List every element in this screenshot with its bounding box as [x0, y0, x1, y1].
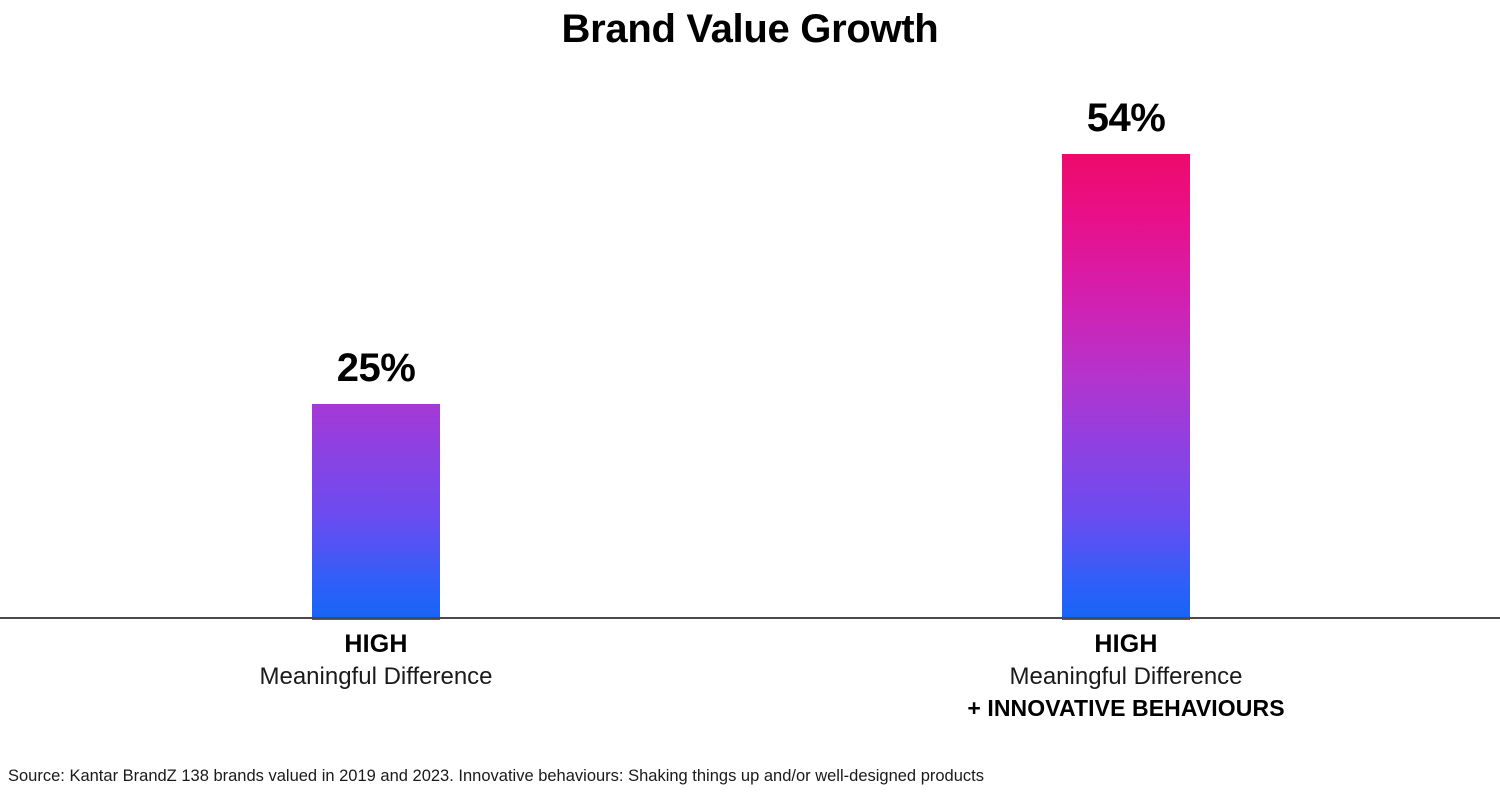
category-label-head: HIGH [132, 628, 620, 661]
bar-high-meaningful-difference-innovative[interactable] [1062, 154, 1190, 620]
bar-value-label: 25% [262, 348, 490, 388]
category-label-sub: Meaningful Difference [882, 661, 1370, 693]
category-label-head: HIGH [882, 628, 1370, 661]
category-label-sub: Meaningful Difference [132, 661, 620, 693]
bar-gradient-fill [1062, 154, 1190, 620]
x-axis-line [0, 617, 1500, 619]
category-label-extra: + INNOVATIVE BEHAVIOURS [882, 693, 1370, 724]
source-footnote: Source: Kantar BrandZ 138 brands valued … [8, 766, 984, 787]
category-label-group: HIGH Meaningful Difference [132, 628, 620, 693]
category-label-group: HIGH Meaningful Difference + INNOVATIVE … [882, 628, 1370, 724]
chart-plot-area: 25% 54% [0, 0, 1500, 620]
bar-value-label: 54% [1012, 98, 1240, 138]
bar-gradient-fill [312, 404, 440, 620]
bar-high-meaningful-difference[interactable] [312, 404, 440, 620]
